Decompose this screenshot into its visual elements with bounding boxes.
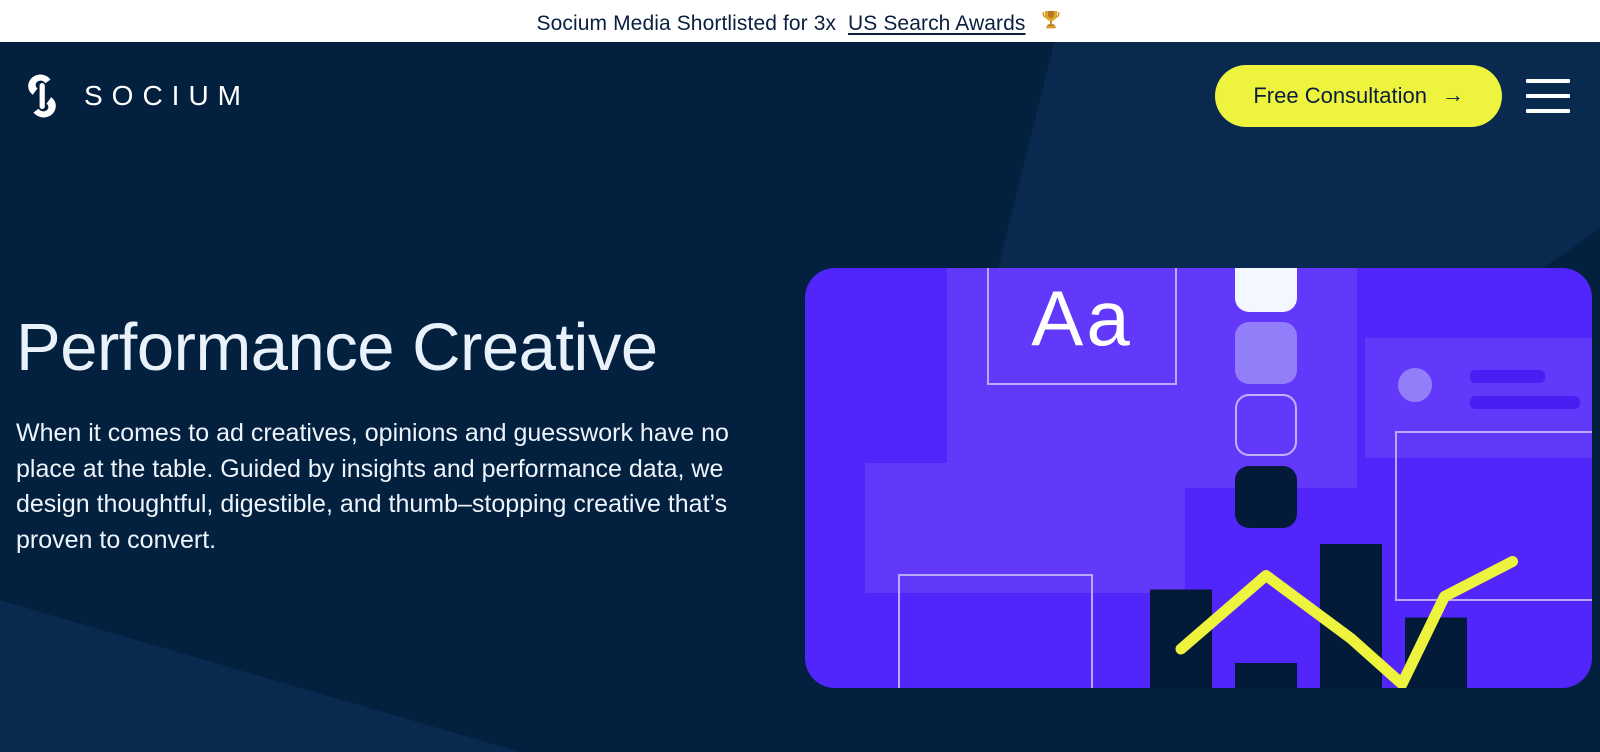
hamburger-bar (1526, 109, 1570, 113)
announcement-content: Socium Media Shortlisted for 3x US Searc… (537, 6, 1064, 36)
text-placeholder-bar (1470, 396, 1580, 409)
swatch-outline (1235, 394, 1297, 456)
swatch-white (1235, 268, 1297, 312)
free-consultation-button[interactable]: Free Consultation → (1215, 65, 1502, 127)
text-placeholder-bar (1470, 370, 1545, 383)
hero-subtitle: When it comes to ad creatives, opinions … (16, 416, 786, 558)
performance-chart (1135, 523, 1592, 688)
arrow-right-icon: → (1442, 84, 1464, 106)
socium-s-logo-icon (20, 70, 64, 122)
site-header: SOCIUM Free Consultation → (0, 42, 1600, 150)
hero-illustration: Aa (805, 268, 1592, 688)
logo[interactable]: SOCIUM (20, 70, 250, 122)
announcement-link[interactable]: US Search Awards (848, 12, 1025, 36)
outlined-frame-left (898, 574, 1093, 688)
hamburger-bar (1526, 94, 1570, 98)
chart-bars (1150, 544, 1467, 688)
cta-label: Free Consultation (1253, 83, 1427, 109)
brand-name: SOCIUM (84, 80, 250, 112)
hamburger-bar (1526, 79, 1570, 83)
swatch-lilac (1235, 322, 1297, 384)
typography-sample-text: Aa (1031, 279, 1132, 357)
announcement-text: Socium Media Shortlisted for 3x (537, 12, 843, 36)
hero-copy: Performance Creative When it comes to ad… (16, 312, 786, 558)
avatar (1398, 368, 1432, 402)
header-actions: Free Consultation → (1215, 65, 1578, 127)
swatch-navy (1235, 466, 1297, 528)
announcement-bar: Socium Media Shortlisted for 3x US Searc… (0, 0, 1600, 42)
page-title: Performance Creative (16, 312, 786, 383)
typography-sample-box: Aa (987, 268, 1177, 385)
hamburger-menu-icon[interactable] (1526, 79, 1570, 113)
color-swatch-column (1235, 268, 1297, 528)
page-root: Socium Media Shortlisted for 3x US Searc… (0, 0, 1600, 752)
trophy-emoji (1039, 8, 1063, 32)
